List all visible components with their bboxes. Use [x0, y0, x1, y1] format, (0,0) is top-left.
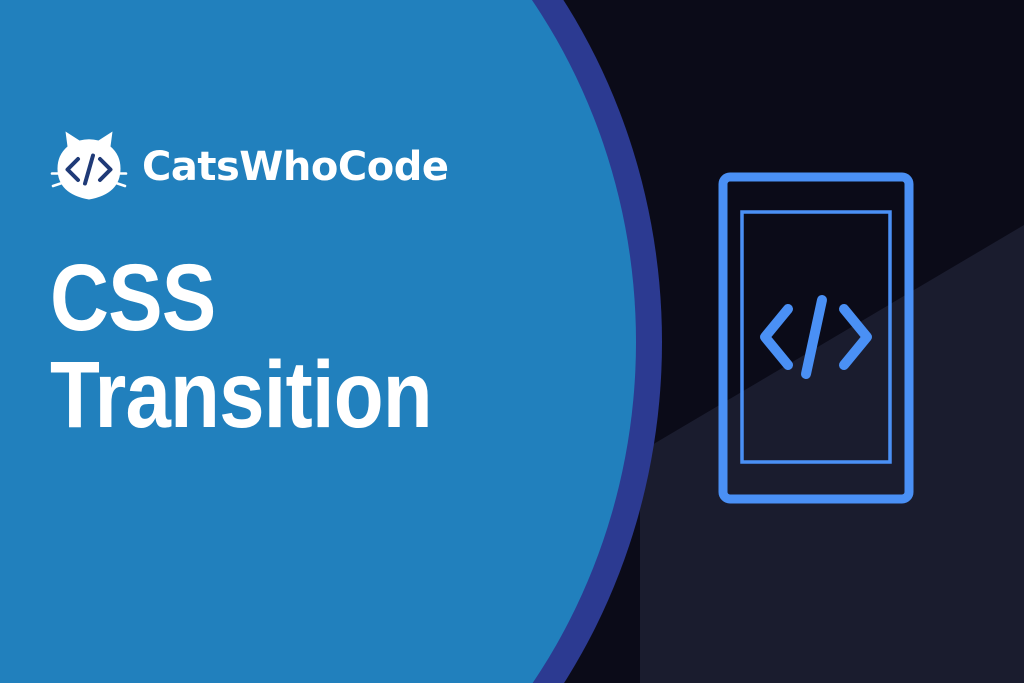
device-illustration — [718, 172, 920, 512]
angle-brackets-slash-icon — [765, 300, 867, 374]
mobile-device-outline-icon — [718, 172, 920, 512]
brand-logo: CatsWhoCode — [50, 128, 570, 202]
cat-head-code-icon — [50, 128, 128, 202]
left-content: CatsWhoCode CSS Transition — [50, 128, 570, 507]
page-title: CSS Transition — [50, 250, 497, 444]
promo-banner: CatsWhoCode CSS Transition — [0, 0, 1024, 683]
brand-wordmark: CatsWhoCode — [142, 147, 448, 187]
